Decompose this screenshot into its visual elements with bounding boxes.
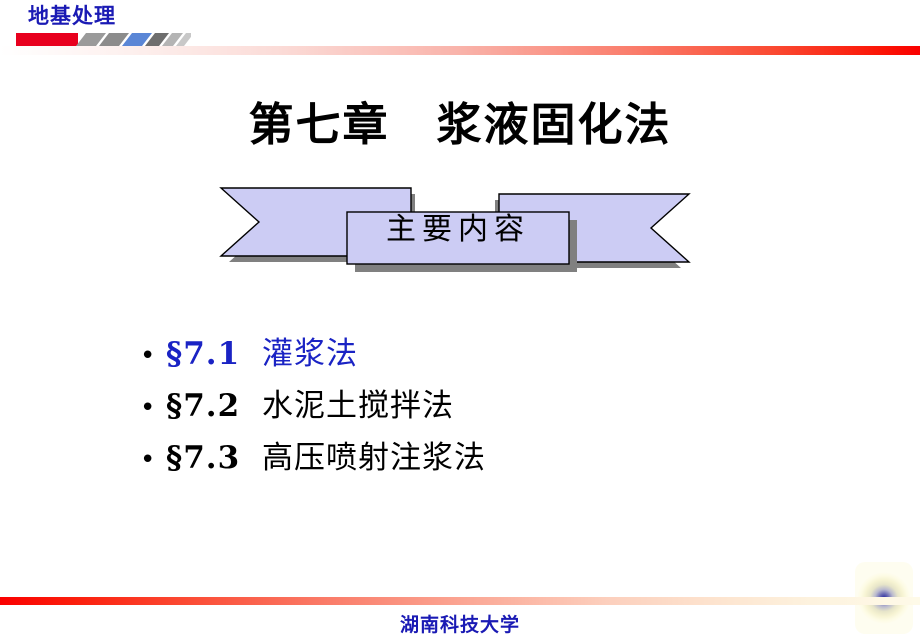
footer-institution-label: 湖南科技大学 [0, 610, 920, 637]
list-item-section: §7.2 [166, 388, 240, 424]
ribbon-banner: 主要内容 [215, 178, 695, 283]
bullet-marker-icon: • [140, 447, 166, 473]
list-item-label: 水泥土搅拌法 [262, 388, 454, 424]
list-item-text: §7.3 高压喷射注浆法 [166, 432, 486, 477]
footer-gradient-band [0, 597, 920, 605]
list-item[interactable]: • §7.1 灌浆法 [140, 328, 780, 380]
page-title: 第七章 浆液固化法 [0, 88, 920, 153]
header-gradient-band [0, 46, 920, 55]
slide-canvas: 地基处理 第七章 浆液固化法 [0, 0, 920, 637]
list-item[interactable]: • §7.2 水泥土搅拌法 [140, 380, 780, 432]
content-list: • §7.1 灌浆法 • §7.2 水泥土搅拌法 • §7.3 高压喷射注浆法 [140, 328, 780, 484]
header-logo-text: 地基处理 [28, 6, 116, 27]
list-item-section: §7.1 [166, 336, 240, 372]
accent-segment-red [16, 33, 78, 46]
ribbon-center-panel [347, 212, 569, 264]
list-item-label: 灌浆法 [262, 336, 358, 372]
list-item-section: §7.3 [166, 440, 240, 476]
header-accent-bar [16, 33, 191, 46]
list-item-text: §7.1 灌浆法 [166, 328, 358, 373]
bullet-marker-icon: • [140, 395, 166, 421]
list-item[interactable]: • §7.3 高压喷射注浆法 [140, 432, 780, 484]
bullet-marker-icon: • [140, 343, 166, 369]
list-item-text: §7.2 水泥土搅拌法 [166, 380, 454, 425]
list-item-label: 高压喷射注浆法 [262, 440, 486, 476]
